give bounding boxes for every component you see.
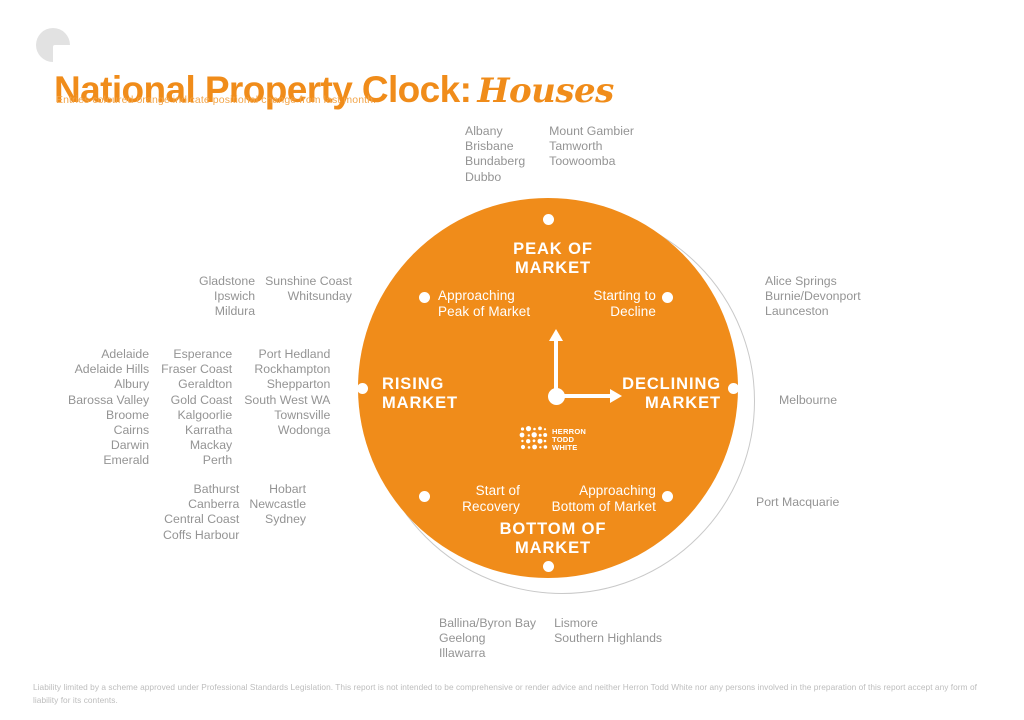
city-label: Albury bbox=[68, 377, 149, 392]
city-label: Melbourne bbox=[779, 393, 837, 408]
city-column: Port Macquarie bbox=[756, 495, 839, 510]
city-label: Coffs Harbour bbox=[163, 528, 239, 543]
city-label: Shepparton bbox=[244, 377, 330, 392]
city-label: Gold Coast bbox=[161, 393, 232, 408]
city-column: Hobart Newcastle Sydney bbox=[249, 482, 306, 543]
clock-dot-starting-decline bbox=[662, 292, 673, 303]
clock-hand-hub bbox=[548, 388, 565, 405]
city-label: Tamworth bbox=[549, 139, 634, 154]
city-column: Alice Springs Burnie/Devonport Launcesto… bbox=[765, 274, 861, 320]
footer-disclaimer: Liability limited by a scheme approved u… bbox=[33, 681, 988, 706]
city-column: Lismore Southern Highlands bbox=[554, 616, 662, 662]
city-label: Ballina/Byron Bay bbox=[439, 616, 536, 631]
city-label: Alice Springs bbox=[765, 274, 861, 289]
city-column: Sunshine Coast Whitsunday bbox=[265, 274, 352, 320]
clock-hand-right-arrow-icon bbox=[610, 389, 622, 403]
page-title-script: Houses bbox=[477, 71, 613, 111]
city-label: Southern Highlands bbox=[554, 631, 662, 646]
city-group-rising-market: Adelaide Adelaide Hills Albury Barossa V… bbox=[68, 347, 330, 469]
city-label: Toowoomba bbox=[549, 154, 634, 169]
city-column: Bathurst Canberra Central Coast Coffs Ha… bbox=[163, 482, 239, 543]
clock-dot-approaching-peak bbox=[419, 292, 430, 303]
segment-label-peak-of-market: PEAK OF MARKET bbox=[468, 240, 638, 279]
city-label: Townsville bbox=[244, 408, 330, 423]
logo-line-3: WHITE bbox=[552, 443, 577, 452]
city-label: Emerald bbox=[68, 453, 149, 468]
city-group-peak-of-market: Albany Brisbane Bundaberg Dubbo Mount Ga… bbox=[465, 124, 634, 185]
segment-label-start-of-recovery: Start of Recovery bbox=[436, 483, 520, 515]
city-label: Canberra bbox=[163, 497, 239, 512]
city-column: Ballina/Byron Bay Geelong Illawarra bbox=[439, 616, 536, 662]
city-label: Bathurst bbox=[163, 482, 239, 497]
city-group-approaching-peak-of-market: Gladstone Ipswich Mildura Sunshine Coast… bbox=[199, 274, 352, 320]
clock-dot-peak bbox=[543, 214, 554, 225]
decorative-circle-notch bbox=[53, 45, 70, 62]
city-label: Burnie/Devonport bbox=[765, 289, 861, 304]
segment-label-approaching-peak: Approaching Peak of Market bbox=[438, 288, 530, 320]
city-group-bottom-of-market: Ballina/Byron Bay Geelong Illawarra Lism… bbox=[439, 616, 662, 662]
city-label: Geelong bbox=[439, 631, 536, 646]
city-column: Port Hedland Rockhampton Shepparton Sout… bbox=[244, 347, 330, 469]
city-label: Sydney bbox=[249, 512, 306, 527]
city-column: Albany Brisbane Bundaberg Dubbo bbox=[465, 124, 525, 185]
city-label: Kalgoorlie bbox=[161, 408, 232, 423]
herron-todd-white-logo: HERRON TODD WHITE bbox=[519, 426, 593, 452]
city-label: Mildura bbox=[199, 304, 255, 319]
city-label: Barossa Valley bbox=[68, 393, 149, 408]
city-label: Illawarra bbox=[439, 646, 536, 661]
city-label: Gladstone bbox=[199, 274, 255, 289]
city-label: Newcastle bbox=[249, 497, 306, 512]
subtitle-note: Entries coloured orange indicate positio… bbox=[56, 94, 376, 106]
city-group-start-of-recovery: Bathurst Canberra Central Coast Coffs Ha… bbox=[163, 482, 306, 543]
city-label: Adelaide Hills bbox=[68, 362, 149, 377]
city-label: Adelaide bbox=[68, 347, 149, 362]
city-label: Sunshine Coast bbox=[265, 274, 352, 289]
clock-dot-start-recovery bbox=[419, 491, 430, 502]
city-label: Broome bbox=[68, 408, 149, 423]
segment-label-starting-to-decline: Starting to Decline bbox=[538, 288, 656, 320]
clock-dot-approaching-bottom bbox=[662, 491, 673, 502]
clock-disc: PEAK OF MARKET Approaching Peak of Marke… bbox=[358, 198, 738, 578]
city-label: Rockhampton bbox=[244, 362, 330, 377]
city-label: Karratha bbox=[161, 423, 232, 438]
city-label: Bundaberg bbox=[465, 154, 525, 169]
city-label: Ipswich bbox=[199, 289, 255, 304]
city-column: Melbourne bbox=[779, 393, 837, 408]
city-label: Mackay bbox=[161, 438, 232, 453]
city-label: Lismore bbox=[554, 616, 662, 631]
city-label: Whitsunday bbox=[265, 289, 352, 304]
city-column: Gladstone Ipswich Mildura bbox=[199, 274, 255, 320]
city-label: Perth bbox=[161, 453, 232, 468]
city-label: Mount Gambier bbox=[549, 124, 634, 139]
city-label: Port Hedland bbox=[244, 347, 330, 362]
city-group-approaching-bottom-of-market: Port Macquarie bbox=[756, 495, 839, 510]
city-group-declining-market: Melbourne bbox=[779, 393, 837, 408]
city-label: Albany bbox=[465, 124, 525, 139]
city-label: Esperance bbox=[161, 347, 232, 362]
city-label: Launceston bbox=[765, 304, 861, 319]
clock-hand-up-arrow-icon bbox=[549, 329, 563, 341]
city-label: Cairns bbox=[68, 423, 149, 438]
city-label: Geraldton bbox=[161, 377, 232, 392]
city-label: Brisbane bbox=[465, 139, 525, 154]
clock-dot-declining bbox=[728, 383, 739, 394]
city-group-starting-to-decline: Alice Springs Burnie/Devonport Launcesto… bbox=[765, 274, 861, 320]
city-column: Mount Gambier Tamworth Toowoomba bbox=[549, 124, 634, 185]
city-column: Esperance Fraser Coast Geraldton Gold Co… bbox=[161, 347, 232, 469]
city-label: Wodonga bbox=[244, 423, 330, 438]
property-clock: PEAK OF MARKET Approaching Peak of Marke… bbox=[355, 196, 765, 606]
city-label: Hobart bbox=[249, 482, 306, 497]
segment-label-rising-market: RISING MARKET bbox=[382, 375, 458, 414]
city-label: Port Macquarie bbox=[756, 495, 839, 510]
city-label: Central Coast bbox=[163, 512, 239, 527]
clock-dot-bottom bbox=[543, 561, 554, 572]
city-label: South West WA bbox=[244, 393, 330, 408]
clock-dot-rising bbox=[357, 383, 368, 394]
city-label: Fraser Coast bbox=[161, 362, 232, 377]
segment-label-bottom-of-market: BOTTOM OF MARKET bbox=[468, 520, 638, 559]
segment-label-approaching-bottom: Approaching Bottom of Market bbox=[518, 483, 656, 515]
city-label: Dubbo bbox=[465, 170, 525, 185]
city-column: Adelaide Adelaide Hills Albury Barossa V… bbox=[68, 347, 149, 469]
city-label: Darwin bbox=[68, 438, 149, 453]
